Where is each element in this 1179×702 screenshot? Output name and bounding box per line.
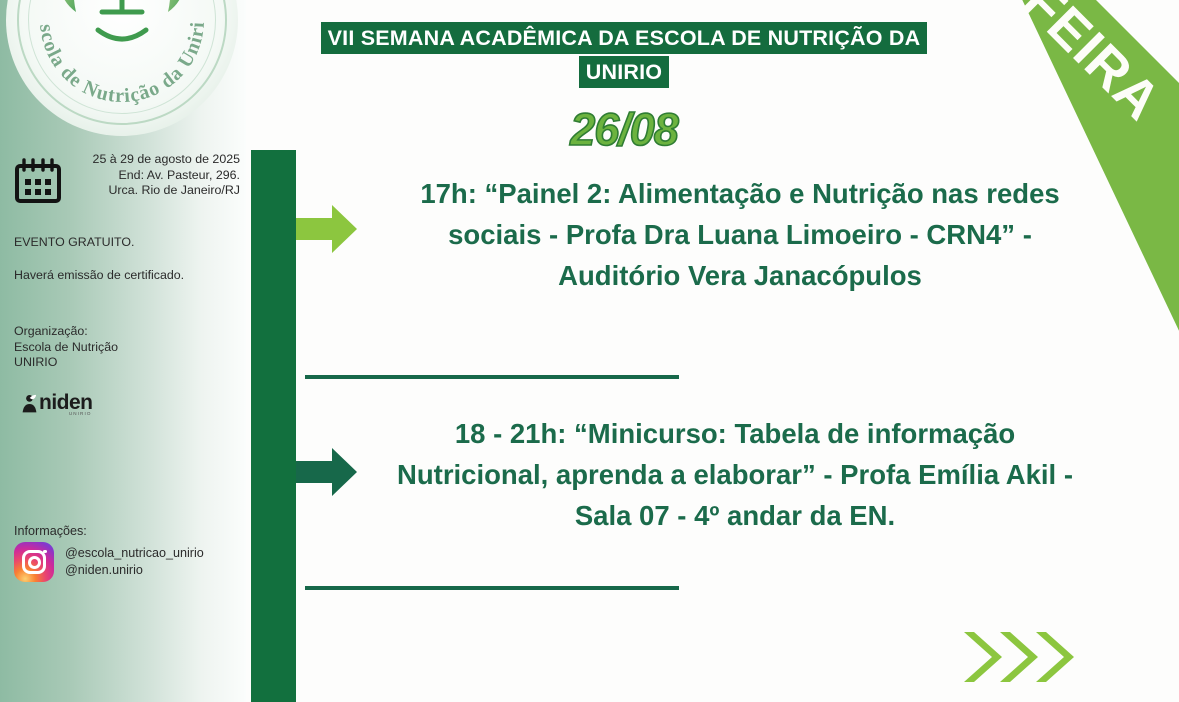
calendar-icon bbox=[14, 158, 62, 204]
svg-text:Escola de Nutrição da Unirio: Escola de Nutrição da Unirio bbox=[6, 0, 209, 107]
event-dates-line: 25 à 29 de agosto de 2025 bbox=[68, 152, 240, 168]
event-item-2: 18 - 21h: “Minicurso: Tabela de informaç… bbox=[385, 413, 1085, 536]
instagram-row[interactable]: @escola_nutricao_unirio @niden.unirio bbox=[14, 542, 204, 582]
niden-leaf-person-icon bbox=[21, 394, 38, 413]
timeline-bar bbox=[251, 150, 296, 702]
arrow-right-icon bbox=[296, 203, 358, 255]
arrow-right-icon bbox=[296, 446, 358, 498]
niden-wordmark: niden bbox=[39, 392, 93, 413]
instagram-icon[interactable] bbox=[14, 542, 54, 582]
niden-logo: niden UNIRIO bbox=[21, 392, 93, 413]
organization-block: Organização: Escola de Nutrição UNIRIO bbox=[14, 324, 229, 371]
info-label: Informações: bbox=[14, 524, 87, 538]
seal-arc-text: Escola de Nutrição da Unirio bbox=[6, 0, 209, 107]
seal-artwork-icon: Escola de Nutrição da Unirio bbox=[6, 0, 238, 136]
ribbon-label: FEIRA bbox=[1012, 0, 1173, 132]
school-seal-logo: Escola de Nutrição da Unirio bbox=[6, 0, 238, 136]
organization-label: Organização: bbox=[14, 324, 229, 340]
instagram-handles: @escola_nutricao_unirio @niden.unirio bbox=[65, 542, 204, 579]
free-event-note: EVENTO GRATUITO. bbox=[14, 235, 229, 251]
event-dates-address: 25 à 29 de agosto de 2025 End: Av. Paste… bbox=[68, 152, 240, 199]
ribbon-label-text: FEIRA bbox=[1012, 0, 1173, 132]
organization-unit: UNIRIO bbox=[14, 355, 229, 371]
event-address-line-2: Urca. Rio de Janeiro/RJ bbox=[68, 183, 240, 199]
event-item-1: 17h: “Painel 2: Alimentação e Nutrição n… bbox=[385, 173, 1095, 296]
page-title: VII SEMANA ACADÊMICA DA ESCOLA DE NUTRIÇ… bbox=[308, 21, 940, 89]
instagram-handle-niden[interactable]: @niden.unirio bbox=[65, 562, 204, 579]
instagram-dot-shape bbox=[43, 550, 47, 554]
instagram-lens-shape bbox=[28, 556, 41, 569]
page-title-text: VII SEMANA ACADÊMICA DA ESCOLA DE NUTRIÇ… bbox=[321, 22, 928, 88]
timeline-divider-2 bbox=[305, 586, 679, 590]
niden-subtitle: UNIRIO bbox=[69, 411, 92, 416]
event-address-line-1: End: Av. Pasteur, 296. bbox=[68, 168, 240, 184]
date-badge: 26/08 bbox=[308, 104, 940, 156]
triple-chevron-right-icon bbox=[962, 628, 1090, 686]
timeline-divider-1 bbox=[305, 375, 679, 379]
sidebar: Escola de Nutrição da Unirio 25 à bbox=[0, 0, 246, 702]
poster-canvas: Escola de Nutrição da Unirio 25 à bbox=[0, 0, 1179, 702]
instagram-handle-school[interactable]: @escola_nutricao_unirio bbox=[65, 545, 204, 562]
organization-name: Escola de Nutrição bbox=[14, 340, 229, 356]
certificate-note: Haverá emissão de certificado. bbox=[14, 268, 229, 284]
